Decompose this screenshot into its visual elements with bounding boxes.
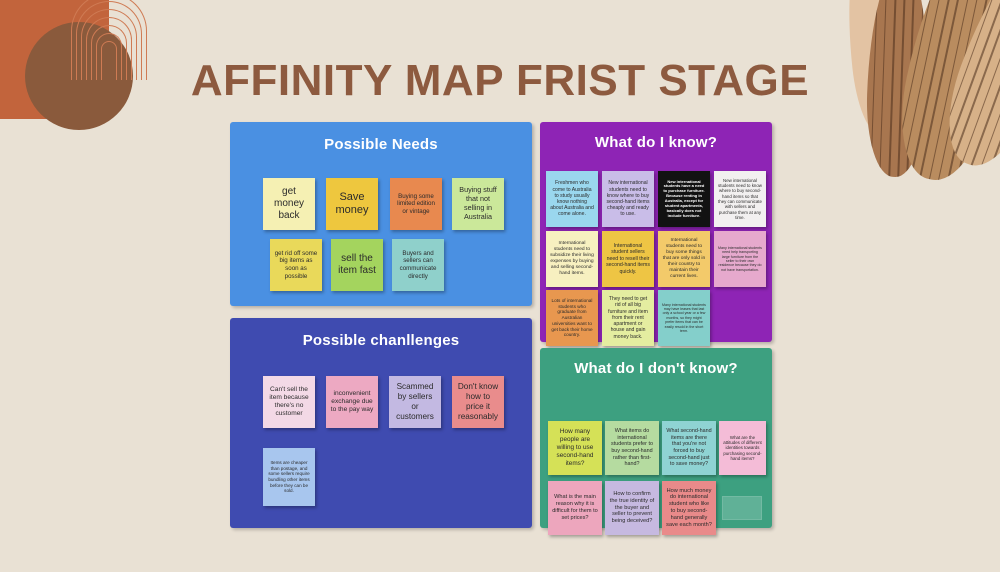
sticky-note[interactable]: Buying stuff that not selling in Austral…	[452, 178, 504, 230]
sticky-note[interactable]: How to confirm the true identity of the …	[605, 481, 659, 535]
panel-possible-challenges: Possible chanllenges Can't sell the item…	[230, 318, 532, 528]
sticky-note[interactable]: International students need to subsidize…	[546, 231, 598, 287]
sticky-note[interactable]: get rid off some big items as soon as po…	[270, 239, 322, 291]
sticky-note[interactable]: Items are cheaper than postage, and some…	[263, 448, 315, 506]
slide-canvas: AFFINITY MAP FRIST STAGE Possible Needs …	[0, 0, 1000, 572]
empty-note-placeholder[interactable]	[722, 496, 762, 520]
sticky-note[interactable]: New international students need to know …	[602, 171, 654, 227]
sticky-note[interactable]: New international students need to know …	[714, 171, 766, 227]
sticky-note[interactable]: How much money do international student …	[662, 481, 716, 535]
sticky-note[interactable]: Can't sell the item because there's no c…	[263, 376, 315, 428]
sticky-note[interactable]: get money back	[263, 178, 315, 230]
panel-possible-needs: Possible Needs get money backSave moneyB…	[230, 122, 532, 306]
panel-title-possible-challenges: Possible chanllenges	[230, 332, 532, 349]
sticky-note[interactable]: What are the attitudes of different iden…	[719, 421, 766, 475]
sticky-note[interactable]: What is the main reason why it is diffic…	[548, 481, 602, 535]
page-title: AFFINITY MAP FRIST STAGE	[0, 56, 1000, 106]
panel-what-do-i-know: What do I know? Freshmen who come to Aus…	[540, 122, 772, 342]
panel-title-what-do-i-dont-know: What do I don't know?	[540, 360, 772, 377]
sticky-note[interactable]: Save money	[326, 178, 378, 230]
sticky-note[interactable]: Buyers and sellers can communicate direc…	[392, 239, 444, 291]
panel-title-what-do-i-know: What do I know?	[540, 134, 772, 151]
sticky-note[interactable]: How many people are willing to use secon…	[548, 421, 602, 475]
sticky-note[interactable]: Scammed by sellers or customers	[389, 376, 441, 428]
sticky-note[interactable]: International students need to buy some …	[658, 231, 710, 287]
sticky-note[interactable]: Freshmen who come to Australia to study …	[546, 171, 598, 227]
sticky-note[interactable]: inconvenient exchange due to the pay way	[326, 376, 378, 428]
sticky-note[interactable]: International student sellers need to re…	[602, 231, 654, 287]
sticky-note[interactable]: Buying some limited edition or vintage	[390, 178, 442, 230]
sticky-note[interactable]: Lots of international students who gradu…	[546, 290, 598, 346]
sticky-note[interactable]: They need to get rid of all big furnitur…	[602, 290, 654, 346]
sticky-note[interactable]: What second-hand items are there that yo…	[662, 421, 716, 475]
sticky-note[interactable]: Don't know how to price it reasonably	[452, 376, 504, 428]
panel-title-possible-needs: Possible Needs	[230, 136, 532, 153]
sticky-note[interactable]: New international students have a need t…	[658, 171, 710, 227]
sticky-note[interactable]: What items do international students pre…	[605, 421, 659, 475]
sticky-note[interactable]: sell the item fast	[331, 239, 383, 291]
panel-what-do-i-dont-know: What do I don't know? How many people ar…	[540, 348, 772, 528]
sticky-note[interactable]: Many international students need help tr…	[714, 231, 766, 287]
sticky-note[interactable]: Many international students may have lea…	[658, 290, 710, 346]
